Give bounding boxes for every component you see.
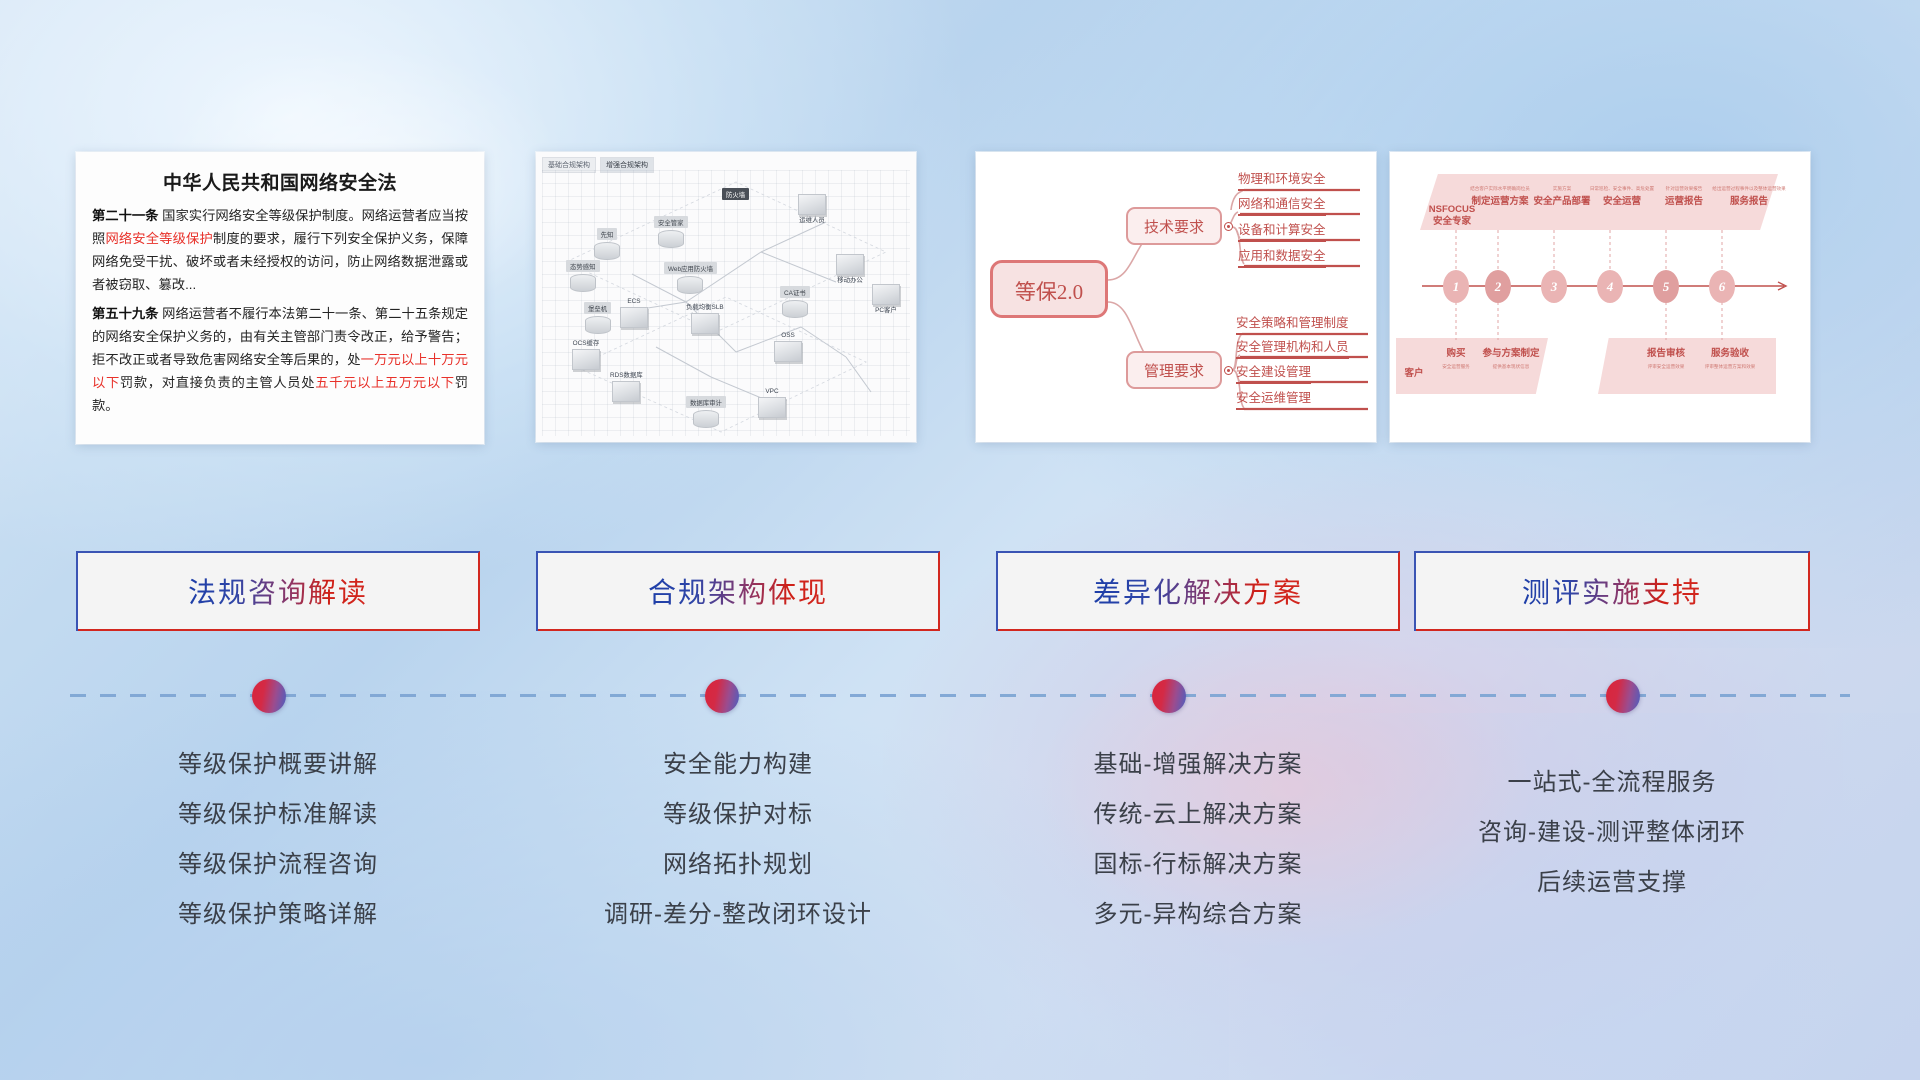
mindmap-leaf-app-data: 应用和数据安全	[1238, 245, 1326, 268]
timeline-step-3[interactable]: 3	[1541, 270, 1567, 303]
title-row: 法规咨询解读 合规架构体现 差异化解决方案 测评实施支持	[0, 551, 1920, 631]
mindmap: 等保2.0 技术要求 物理和环境安全 网络和通信安全 设备和计算安全 应用和数据…	[976, 152, 1376, 442]
mindmap-root: 等保2.0	[990, 260, 1108, 318]
node-rds-database: RDS数据库	[610, 370, 643, 402]
mindmap-leaf-network-comm: 网络和通信安全	[1238, 193, 1326, 216]
list-item: 等级保护流程咨询	[76, 840, 480, 890]
title-label-3: 差异化解决方案	[1093, 571, 1303, 611]
list-item: 等级保护对标	[536, 790, 940, 840]
title-label-1: 法规咨询解读	[188, 571, 368, 611]
top-step-2: 实施方案 安全产品部署	[1530, 186, 1594, 208]
mindmap-branch-management: 管理要求	[1126, 351, 1222, 389]
list-item: 等级保护标准解读	[76, 790, 480, 840]
feature-list-2: 安全能力构建 等级保护对标 网络拓扑规划 调研-差分-整改闭环设计	[536, 740, 940, 940]
cards-row: 中华人民共和国网络安全法 第二十一条 国家实行网络安全等级保护制度。网络运营者应…	[0, 152, 1920, 452]
list-item: 多元-异构综合方案	[996, 890, 1400, 940]
list-item: 网络拓扑规划	[536, 840, 940, 890]
law-article-59: 第五十九条 网络运营者不履行本法第二十一条、第二十五条规定的网络安全保护义务的，…	[92, 303, 468, 417]
list-item: 一站式-全流程服务	[1414, 758, 1810, 808]
list-item: 国标-行标解决方案	[996, 840, 1400, 890]
node-vpc: VPC	[758, 388, 786, 418]
slide-stage: 中华人民共和国网络安全法 第二十一条 国家实行网络安全等级保护制度。网络运营者应…	[0, 0, 1920, 1080]
timeline-step-2[interactable]: 2	[1485, 270, 1511, 303]
node-xianzhi: 先知	[594, 228, 620, 260]
feature-list-3: 基础-增强解决方案 传统-云上解决方案 国标-行标解决方案 多元-异构综合方案	[996, 740, 1400, 940]
list-item: 调研-差分-整改闭环设计	[536, 890, 940, 940]
article-59-label: 第五十九条	[92, 306, 158, 321]
list-item: 等级保护概要讲解	[76, 740, 480, 790]
node-slb: 负载均衡SLB	[686, 302, 724, 334]
node-web-application-firewall: Web应用防火墙	[664, 262, 717, 294]
node-ops-staff: 运维人员	[798, 192, 826, 224]
mindmap-leaf-physical-env: 物理和环境安全	[1238, 168, 1326, 191]
architecture-diagram: 基础合规架构 增强合规架构	[536, 152, 916, 442]
node-oss: OSS	[774, 332, 802, 362]
card-mind-map: 等保2.0 技术要求 物理和环境安全 网络和通信安全 设备和计算安全 应用和数据…	[976, 152, 1376, 442]
feature-list-1: 等级保护概要讲解 等级保护标准解读 等级保护流程咨询 等级保护策略详解	[76, 740, 480, 940]
bottom-step-plan: 参与方案制定 提供基本现状信息	[1474, 348, 1548, 370]
list-item: 基础-增强解决方案	[996, 740, 1400, 790]
title-box-assessment-support[interactable]: 测评实施支持	[1414, 551, 1810, 631]
node-security-steward: 安全管家	[654, 216, 688, 248]
card-cybersecurity-law: 中华人民共和国网络安全法 第二十一条 国家实行网络安全等级保护制度。网络运营者应…	[76, 152, 484, 444]
article-59-penalty-2: 五千元以上五万元以下	[315, 375, 455, 390]
customer-label: 客户	[1400, 368, 1428, 380]
timeline-step-6[interactable]: 6	[1709, 270, 1735, 303]
mindmap-leaf-construction-mgmt: 安全建设管理	[1236, 361, 1311, 384]
timeline-marker-4[interactable]	[1606, 679, 1640, 713]
mindmap-branch-technical: 技术要求	[1126, 207, 1222, 245]
title-box-differentiated-solution[interactable]: 差异化解决方案	[996, 551, 1400, 631]
bottom-step-report-review: 报告审核 评审安全运营效果	[1634, 348, 1698, 370]
mindmap-leaf-ops-mgmt: 安全运维管理	[1236, 387, 1311, 410]
article-21-label: 第二十一条	[92, 208, 158, 223]
list-item: 安全能力构建	[536, 740, 940, 790]
list-item: 咨询-建设-测评整体闭环	[1414, 808, 1810, 858]
title-label-2: 合规架构体现	[648, 571, 828, 611]
title-box-regulation-consulting[interactable]: 法规咨询解读	[76, 551, 480, 631]
timeline-marker-2[interactable]	[705, 679, 739, 713]
node-ecs: ECS	[620, 298, 648, 328]
law-article-21: 第二十一条 国家实行网络安全等级保护制度。网络运营者应当按照网络安全等级保护制度…	[92, 205, 468, 296]
node-firewall: 防火墙	[722, 188, 749, 200]
article-21-highlight: 网络安全等级保护	[105, 231, 212, 246]
title-box-compliance-architecture[interactable]: 合规架构体现	[536, 551, 940, 631]
node-bastion-host: 堡垒机	[584, 302, 611, 334]
node-ocs-cache: OCS缓存	[572, 338, 600, 370]
timeline-step-4[interactable]: 4	[1597, 270, 1623, 303]
list-item: 等级保护策略详解	[76, 890, 480, 940]
mindmap-leaf-policy-system: 安全策略和管理制度	[1236, 312, 1349, 335]
node-ca-certificate: CA证书	[780, 286, 810, 318]
mindmap-leaf-org-personnel: 安全管理机构和人员	[1236, 336, 1349, 359]
timeline-step-5[interactable]: 5	[1653, 270, 1679, 303]
bottom-step-acceptance: 服务验收 评审整体运营方案和效果	[1692, 348, 1768, 370]
card-compliance-architecture: 基础合规架构 增强合规架构	[536, 152, 916, 442]
list-item: 后续运营支撑	[1414, 858, 1810, 908]
top-step-5: 给出运营过程事件以及整体运营效果 服务报告	[1708, 186, 1790, 208]
mindmap-collapse-dot-management[interactable]	[1224, 366, 1233, 375]
node-situational-awareness: 态势感知	[566, 260, 600, 292]
feature-list-4: 一站式-全流程服务 咨询-建设-测评整体闭环 后续运营支撑	[1414, 758, 1810, 908]
node-database-audit: 数据库审计	[686, 396, 726, 428]
node-pc-client: PC客户	[872, 282, 900, 314]
timeline-marker-1[interactable]	[252, 679, 286, 713]
mindmap-leaf-device-compute: 设备和计算安全	[1238, 219, 1326, 242]
timeline-marker-3[interactable]	[1152, 679, 1186, 713]
mindmap-collapse-dot-technical[interactable]	[1224, 222, 1233, 231]
title-label-4: 测评实施支持	[1522, 571, 1702, 611]
list-item: 传统-云上解决方案	[996, 790, 1400, 840]
top-step-1: 结合客户实际水平明确岗位员 制定运营方案	[1468, 186, 1532, 208]
nsfocus-timeline: NSFOCUS 安全专家 结合客户实际水平明确岗位员 制定运营方案 实施方案 安…	[1390, 152, 1810, 442]
timeline-step-1[interactable]: 1	[1443, 270, 1469, 303]
article-59-mid: 罚款，对直接负责的主管人员处	[120, 375, 315, 390]
law-title: 中华人民共和国网络安全法	[92, 168, 468, 195]
dashed-timeline	[70, 694, 1850, 697]
node-mobile-office: 移动办公	[836, 252, 864, 284]
card-service-timeline: NSFOCUS 安全专家 结合客户实际水平明确岗位员 制定运营方案 实施方案 安…	[1390, 152, 1810, 442]
law-document: 中华人民共和国网络安全法 第二十一条 国家实行网络安全等级保护制度。网络运营者应…	[76, 152, 484, 444]
